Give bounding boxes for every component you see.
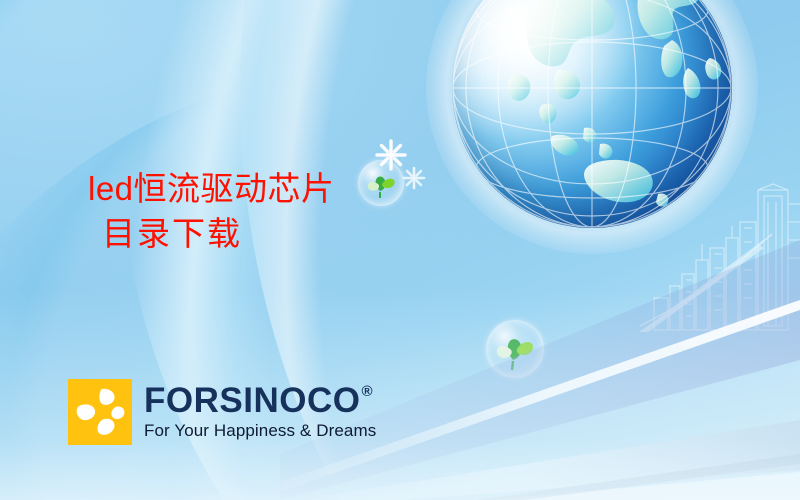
logo-tagline: For Your Happiness & Dreams (144, 420, 376, 441)
headline-line-1: led恒流驱动芯片 (88, 166, 335, 211)
logo-text-lockup: FORSINOCO ® For Your Happiness & Dreams (144, 379, 376, 441)
logo-wordmark: FORSINOCO ® (144, 383, 376, 419)
headline-cjk-text: 恒流驱动芯片 (134, 170, 335, 207)
company-logo: FORSINOCO ® For Your Happiness & Dreams (68, 379, 376, 445)
registered-trademark-icon: ® (361, 383, 373, 400)
headline-latin-prefix: led (88, 170, 134, 207)
slide-headline: led恒流驱动芯片 目录下载 (88, 166, 335, 256)
logo-wordmark-text: FORSINOCO (144, 383, 360, 419)
slide-canvas: led恒流驱动芯片 目录下载 FORSINOCO ® For Your Happ… (0, 0, 800, 500)
four-petal-flower-icon (68, 379, 132, 445)
headline-line-2: 目录下载 (88, 211, 335, 256)
